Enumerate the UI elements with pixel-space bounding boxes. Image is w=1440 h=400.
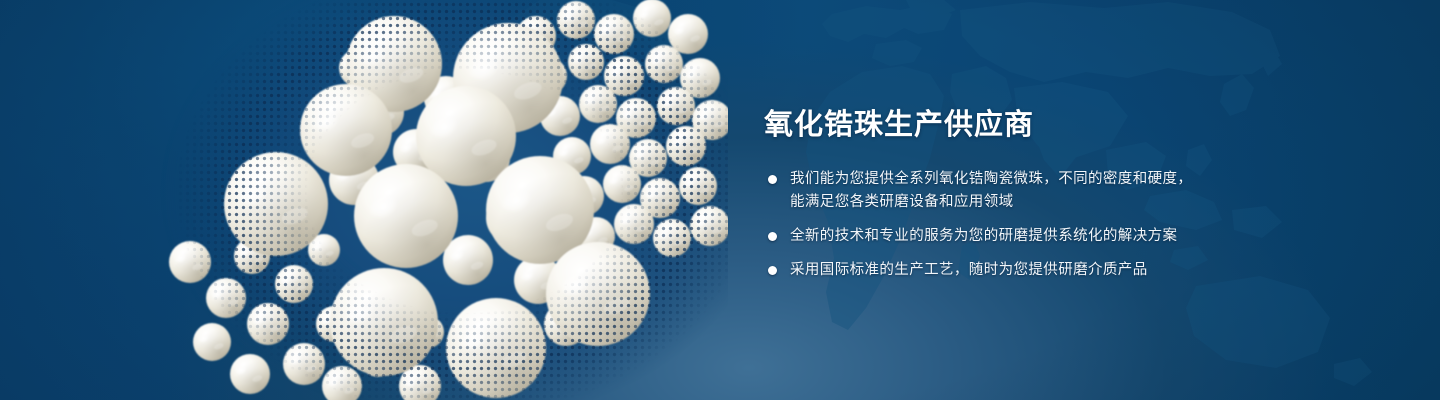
list-item-line: 我们能为您提供全系列氧化锆陶瓷微珠，不同的密度和硬度， [790, 168, 1404, 191]
list-item-line: 采用国际标准的生产工艺，随时为您提供研磨介质产品 [790, 259, 1404, 282]
list-item: 我们能为您提供全系列氧化锆陶瓷微珠，不同的密度和硬度， 能满足您各类研磨设备和应… [764, 168, 1404, 214]
list-item-line: 能满足您各类研磨设备和应用领域 [790, 191, 1404, 214]
banner-copy: 氧化锆珠生产供应商 我们能为您提供全系列氧化锆陶瓷微珠，不同的密度和硬度， 能满… [764, 104, 1404, 282]
bullet-dot-icon [768, 232, 777, 241]
zirconia-beads-photo [128, 0, 728, 400]
bullet-dot-icon [768, 266, 777, 275]
bullet-dot-icon [768, 175, 777, 184]
list-item: 采用国际标准的生产工艺，随时为您提供研磨介质产品 [764, 259, 1404, 282]
hero-banner: 氧化锆珠生产供应商 我们能为您提供全系列氧化锆陶瓷微珠，不同的密度和硬度， 能满… [0, 0, 1440, 400]
halftone-edge-fade [128, 0, 728, 400]
feature-list: 我们能为您提供全系列氧化锆陶瓷微珠，不同的密度和硬度， 能满足您各类研磨设备和应… [764, 168, 1404, 282]
list-item-line: 全新的技术和专业的服务为您的研磨提供系统化的解决方案 [790, 225, 1404, 248]
list-item: 全新的技术和专业的服务为您的研磨提供系统化的解决方案 [764, 225, 1404, 248]
page-title: 氧化锆珠生产供应商 [764, 104, 1404, 144]
